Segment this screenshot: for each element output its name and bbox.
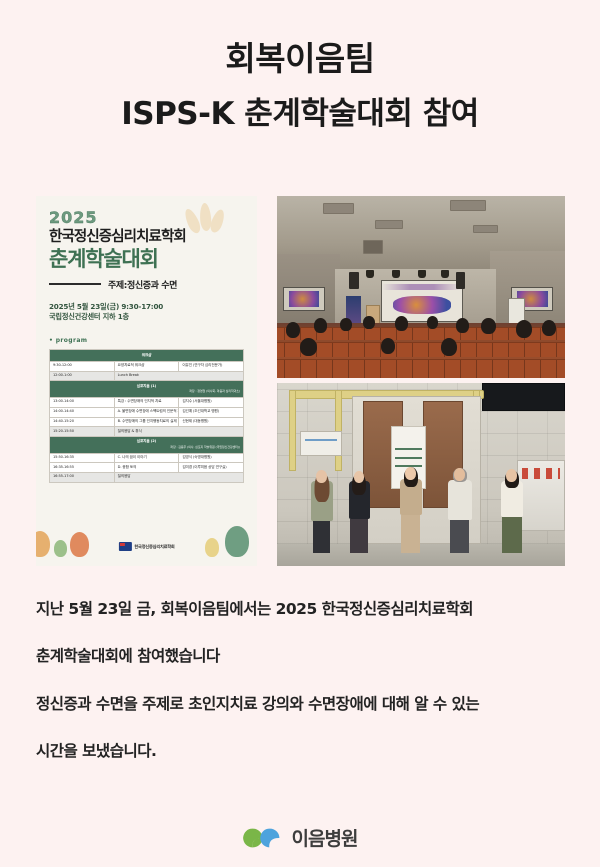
auditorium-photo: [277, 196, 565, 378]
title-line-1: 회복이음팀: [0, 38, 600, 80]
table-cell-time: 13:00-14:00: [50, 398, 115, 408]
table-cell-presenter: 김영식 (숙명대병원): [179, 453, 244, 463]
petal-decoration-icon: [183, 201, 229, 245]
footer: 이음병원: [0, 824, 600, 851]
tree-icon: [54, 540, 67, 557]
poster-brand-logo: 한국정신증심리치료학회: [118, 542, 174, 551]
table-row: 심포지움 (1)좌장 : 정영철 (의사회, 마음과 심리학과소): [50, 381, 244, 398]
table-row: 16:35-16:55D. 종합 토의김미경 (이루미음 상담 연구실): [50, 463, 244, 473]
table-row: 15:50-16:35C. 나의 꿈이 이야기김영식 (숙명대병원): [50, 453, 244, 463]
table-cell-presenter: 김미경 (이루미음 상담 연구실): [179, 463, 244, 473]
poster-program-label: • program: [49, 337, 244, 344]
tree-icon: [205, 538, 219, 557]
media-row: 2025 한국정신증심리치료학회 춘계학술대회 주제:정신증과 수면 2025년…: [0, 193, 600, 568]
wall-notice: [300, 431, 342, 457]
table-section-header: 심포지움 (2)좌장 : 김용주 (의사, 심포지 학술위원 (국립정신건강센터…: [50, 436, 244, 453]
table-cell-title: D. 종합 토의: [114, 463, 179, 473]
hospital-logo: [243, 827, 285, 849]
table-cell-time: 15:50-16:35: [50, 453, 115, 463]
table-row: 워크샵: [50, 350, 244, 362]
divider: [49, 283, 101, 285]
wall-tv: [482, 383, 565, 411]
body-paragraph: 춘계학술대회에 참여했습니다: [36, 647, 576, 666]
table-cell-title: Lunch Break: [114, 371, 243, 381]
person: [340, 471, 377, 553]
person: [441, 468, 478, 553]
table-cell-time: 16:55-17:00: [50, 473, 115, 483]
table-row: 12:00-1:00Lunch Break: [50, 371, 244, 381]
person: [493, 469, 530, 553]
table-section-note: 좌장 : 정영철 (의사회, 마음과 심리학과소): [53, 390, 240, 393]
article-body: 지난 5월 23일 금, 회복이음팀에서는 2025 한국정신증심리치료학회 춘…: [36, 600, 576, 762]
table-cell-title: 요양치료적 워크샵: [114, 361, 179, 371]
leaf-blue-icon: [260, 828, 280, 848]
table-cell-title: A. 불면장애 수면장애 스펙트럼의 인문적 체계와 실제적 치료: [114, 407, 179, 417]
table-cell-time: 9:30-12:00: [50, 361, 115, 371]
title-line-2: ISPS-K 춘계학술대회 참여: [0, 94, 600, 134]
table-cell-title: C. 나의 꿈이 이야기: [114, 453, 179, 463]
table-cell-time: 14:00-14:40: [50, 407, 115, 417]
table-row: 심포지움 (2)좌장 : 김용주 (의사, 심포지 학술위원 (국립정신건강센터…: [50, 436, 244, 453]
group-photo: [277, 383, 565, 566]
projection-screen: [381, 280, 464, 322]
table-cell-presenter: 이유진 (연구자 심리전문가): [179, 361, 244, 371]
table-section-note: 좌장 : 김용주 (의사, 심포지 학술위원 (국립정신건강센터)): [53, 446, 240, 449]
tree-icon: [36, 531, 50, 557]
table-cell-presenter: 김선예 (조선대학교 병원): [179, 407, 244, 417]
body-paragraph: 시간을 보냈습니다.: [36, 742, 576, 761]
poster-subject-row: 주제:정신증과 수면: [49, 278, 244, 291]
person: [392, 467, 429, 553]
society-logo-icon: [118, 542, 131, 551]
table-row: 15:20-15:50질의응답 & 휴식: [50, 427, 244, 437]
poster-datetime: 2025년 5월 23일(금) 9:30-17:00: [49, 302, 244, 313]
tree-icon: [225, 526, 249, 557]
person: [303, 470, 340, 553]
table-section-header: 워크샵: [50, 350, 244, 362]
table-cell-presenter: 신현제 (대동병원): [179, 417, 244, 427]
conference-poster-image: 2025 한국정신증심리치료학회 춘계학술대회 주제:정신증과 수면 2025년…: [36, 196, 257, 566]
poster-brand-text: 한국정신증심리치료학회: [134, 544, 174, 550]
table-row: 13:00-14:00특강 : 수면장애의 인지적 치료김지수 (서울대병원): [50, 398, 244, 408]
tree-icon: [70, 532, 89, 557]
poster-subject: 주제:정신증과 수면: [108, 278, 177, 291]
table-cell-title: 질의응답 & 휴식: [114, 427, 243, 437]
table-cell-time: 16:35-16:55: [50, 463, 115, 473]
page-title: 회복이음팀 ISPS-K 춘계학술대회 참여: [0, 0, 600, 135]
table-row: 16:55-17:00질의응답: [50, 473, 244, 483]
poster-program-table: 워크샵9:30-12:00요양치료적 워크샵이유진 (연구자 심리전문가)12:…: [49, 349, 244, 483]
table-row: 14:00-14:40A. 불면장애 수면장애 스펙트럼의 인문적 체계와 실제…: [50, 407, 244, 417]
table-cell-time: 15:20-15:50: [50, 427, 115, 437]
poster-event-name: 춘계학술대회: [49, 248, 244, 271]
table-cell-time: 14:40-15:20: [50, 417, 115, 427]
table-cell-title: B. 수면장애의 그룹 인지행동치료의 실제: [114, 417, 179, 427]
table-row: 14:40-15:20B. 수면장애의 그룹 인지행동치료의 실제신현제 (대동…: [50, 417, 244, 427]
body-paragraph: 정신증과 수면을 주제로 초인지치료 강의와 수면장애에 대해 알 수 있는: [36, 695, 576, 714]
table-section-header: 심포지움 (1)좌장 : 정영철 (의사회, 마음과 심리학과소): [50, 381, 244, 398]
poster-venue: 국립정신건강센터 지하 1층: [49, 312, 244, 323]
hospital-name: 이음병원: [292, 824, 358, 851]
poster-datetime-venue: 2025년 5월 23일(금) 9:30-17:00 국립정신건강센터 지하 1…: [49, 302, 244, 324]
poster-footer-decoration: 한국정신증심리치료학회: [36, 514, 257, 566]
table-cell-title: 질의응답: [114, 473, 243, 483]
body-paragraph: 지난 5월 23일 금, 회복이음팀에서는 2025 한국정신증심리치료학회: [36, 600, 576, 619]
side-monitor-left: [283, 287, 325, 311]
table-cell-time: 12:00-1:00: [50, 371, 115, 381]
table-cell-title: 특강 : 수면장애의 인지적 치료: [114, 398, 179, 408]
table-row: 9:30-12:00요양치료적 워크샵이유진 (연구자 심리전문가): [50, 361, 244, 371]
table-cell-presenter: 김지수 (서울대병원): [179, 398, 244, 408]
